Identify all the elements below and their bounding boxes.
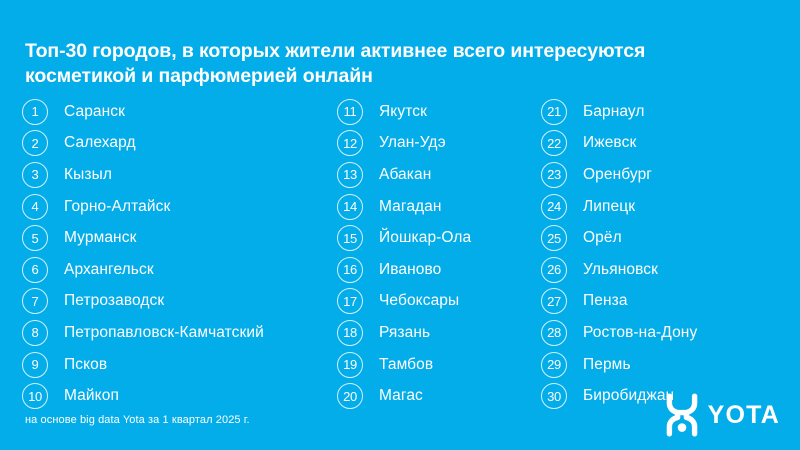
ranking-row: 4Горно-Алтайск: [22, 191, 322, 223]
rank-badge: 9: [22, 352, 48, 378]
ranking-row: 14Магадан: [337, 191, 532, 223]
rank-badge: 21: [541, 99, 567, 125]
city-label: Магадан: [379, 198, 442, 216]
city-label: Якутск: [379, 103, 427, 121]
rank-badge: 13: [337, 162, 363, 188]
ranking-column-2: 11Якутск12Улан-Удэ13Абакан14Магадан15Йош…: [337, 96, 532, 412]
city-label: Чебоксары: [379, 292, 459, 310]
city-label: Орёл: [583, 229, 622, 247]
source-note: на основе big data Yota за 1 квартал 202…: [25, 414, 250, 426]
rank-badge: 1: [22, 99, 48, 125]
ranking-row: 29Пермь: [541, 349, 791, 381]
city-label: Псков: [64, 356, 107, 374]
city-label: Иваново: [379, 261, 441, 279]
city-label: Мурманск: [64, 229, 136, 247]
yota-wordmark: YOTA: [708, 403, 780, 428]
city-label: Оренбург: [583, 166, 652, 184]
rank-badge: 22: [541, 130, 567, 156]
ranking-row: 2Салехард: [22, 128, 322, 160]
city-label: Ижевск: [583, 134, 636, 152]
rank-badge: 25: [541, 225, 567, 251]
rank-badge: 30: [541, 383, 567, 409]
ranking-column-3: 21Барнаул22Ижевск23Оренбург24Липецк25Орё…: [541, 96, 791, 412]
city-label: Майкоп: [64, 387, 119, 405]
rank-badge: 17: [337, 288, 363, 314]
ranking-row: 7Петрозаводск: [22, 286, 322, 318]
yota-person-icon: [665, 393, 699, 437]
city-label: Петрозаводск: [64, 292, 164, 310]
rank-badge: 7: [22, 288, 48, 314]
rank-badge: 5: [22, 225, 48, 251]
city-label: Пенза: [583, 292, 628, 310]
ranking-row: 16Иваново: [337, 254, 532, 286]
rank-badge: 11: [337, 99, 363, 125]
city-label: Салехард: [64, 134, 136, 152]
city-label: Тамбов: [379, 356, 433, 374]
city-label: Йошкар-Ола: [379, 229, 471, 247]
rank-badge: 2: [22, 130, 48, 156]
ranking-row: 12Улан-Удэ: [337, 128, 532, 160]
city-label: Петропавловск-Камчатский: [64, 324, 264, 342]
ranking-row: 21Барнаул: [541, 96, 791, 128]
ranking-row: 25Орёл: [541, 222, 791, 254]
ranking-row: 28Ростов-на-Дону: [541, 317, 791, 349]
ranking-row: 8Петропавловск-Камчатский: [22, 317, 322, 349]
ranking-column-1: 1Саранск2Салехард3Кызыл4Горно-Алтайск5Му…: [22, 96, 322, 412]
rank-badge: 24: [541, 194, 567, 220]
city-label: Рязань: [379, 324, 430, 342]
rank-badge: 14: [337, 194, 363, 220]
page-title-line-2: косметикой и парфюмерией онлайн: [25, 64, 770, 89]
city-label: Улан-Удэ: [379, 134, 446, 152]
rank-badge: 15: [337, 225, 363, 251]
rank-badge: 26: [541, 257, 567, 283]
rank-badge: 29: [541, 352, 567, 378]
ranking-row: 1Саранск: [22, 96, 322, 128]
ranking-row: 15Йошкар-Ола: [337, 222, 532, 254]
rank-badge: 8: [22, 320, 48, 346]
ranking-row: 11Якутск: [337, 96, 532, 128]
rank-badge: 12: [337, 130, 363, 156]
rank-badge: 10: [22, 383, 48, 409]
city-label: Ульяновск: [583, 261, 658, 279]
city-label: Абакан: [379, 166, 431, 184]
city-label: Магас: [379, 387, 423, 405]
rank-badge: 20: [337, 383, 363, 409]
rank-badge: 3: [22, 162, 48, 188]
city-label: Пермь: [583, 356, 631, 374]
ranking-row: 24Липецк: [541, 191, 791, 223]
city-label: Кызыл: [64, 166, 112, 184]
city-label: Липецк: [583, 198, 635, 216]
rank-badge: 18: [337, 320, 363, 346]
ranking-row: 22Ижевск: [541, 128, 791, 160]
ranking-row: 9Псков: [22, 349, 322, 381]
rank-badge: 27: [541, 288, 567, 314]
rank-badge: 23: [541, 162, 567, 188]
ranking-row: 23Оренбург: [541, 159, 791, 191]
ranking-row: 26Ульяновск: [541, 254, 791, 286]
rank-badge: 16: [337, 257, 363, 283]
ranking-row: 6Архангельск: [22, 254, 322, 286]
ranking-row: 17Чебоксары: [337, 286, 532, 318]
yota-logo: YOTA: [665, 392, 780, 438]
city-label: Барнаул: [583, 103, 645, 121]
ranking-row: 19Тамбов: [337, 349, 532, 381]
ranking-row: 10Майкоп: [22, 380, 322, 412]
ranking-row: 20Магас: [337, 380, 532, 412]
rank-badge: 19: [337, 352, 363, 378]
ranking-row: 27Пенза: [541, 286, 791, 318]
city-label: Горно-Алтайск: [64, 198, 170, 216]
rank-badge: 6: [22, 257, 48, 283]
page-title-line-1: Топ-30 городов, в которых жители активне…: [25, 39, 770, 64]
rank-badge: 4: [22, 194, 48, 220]
page-title: Топ-30 городов, в которых жители активне…: [25, 39, 770, 89]
rank-badge: 28: [541, 320, 567, 346]
poster-canvas: Топ-30 городов, в которых жители активне…: [0, 0, 800, 450]
ranking-row: 5Мурманск: [22, 222, 322, 254]
city-label: Архангельск: [64, 261, 154, 279]
ranking-row: 18Рязань: [337, 317, 532, 349]
city-label: Ростов-на-Дону: [583, 324, 697, 342]
ranking-row: 13Абакан: [337, 159, 532, 191]
ranking-row: 3Кызыл: [22, 159, 322, 191]
city-label: Биробиджан: [583, 387, 674, 405]
city-label: Саранск: [64, 103, 125, 121]
